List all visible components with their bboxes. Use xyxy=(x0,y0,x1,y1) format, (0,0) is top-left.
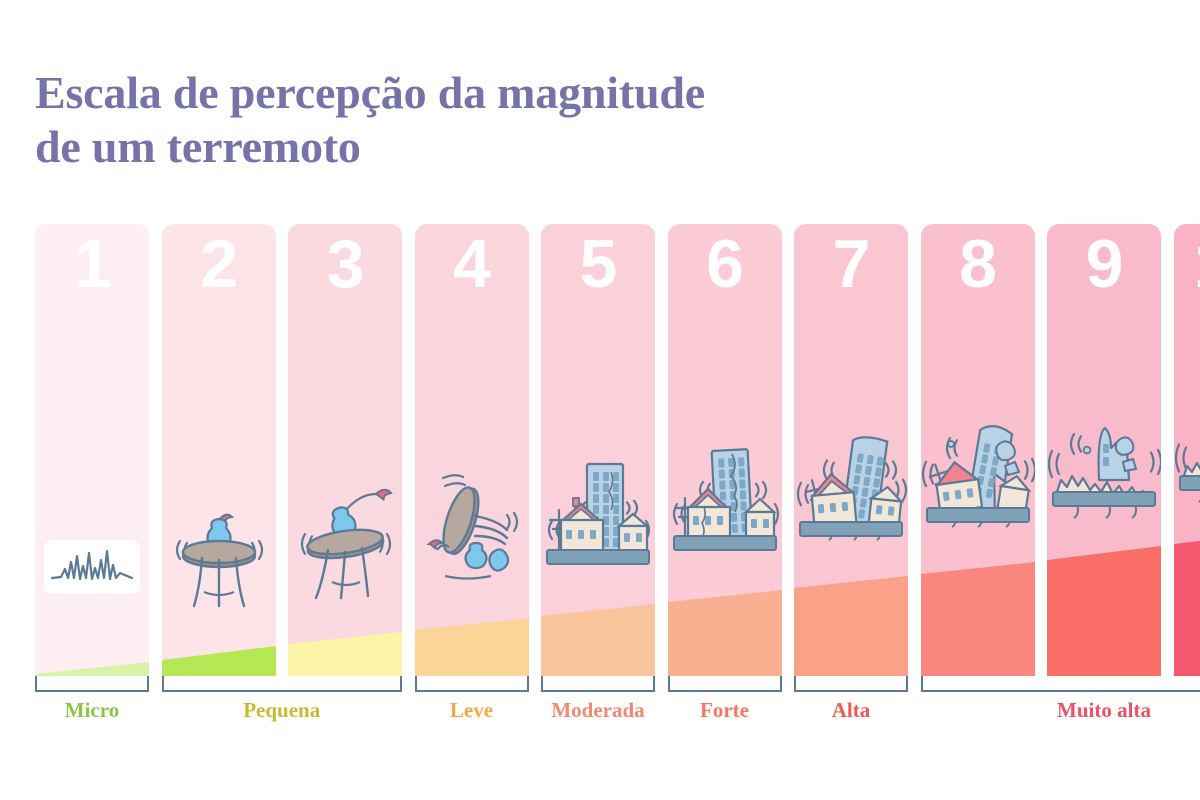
intensity-band xyxy=(1047,516,1161,676)
column-illustration xyxy=(1174,316,1200,516)
infographic-canvas: Escala de percepção da magnitude de um t… xyxy=(0,0,1200,800)
category-label: Muito alta xyxy=(921,698,1200,723)
column-illustration xyxy=(288,418,402,618)
column-illustration xyxy=(162,432,276,632)
bracket-pequena xyxy=(162,676,403,692)
category-label: Pequena xyxy=(162,698,403,723)
column-illustration xyxy=(668,376,782,576)
column-illustration xyxy=(415,404,529,604)
column-illustration xyxy=(1047,332,1161,532)
column-number: 2 xyxy=(162,230,276,298)
column-number: 1 xyxy=(35,230,149,298)
scale-column-2[interactable]: 2 xyxy=(162,224,276,676)
column-illustration xyxy=(541,390,655,590)
column-number: 5 xyxy=(541,230,655,298)
category-brackets xyxy=(35,676,1172,696)
scale-column-3[interactable]: 3 xyxy=(288,224,402,676)
intensity-band xyxy=(1174,516,1200,676)
column-number: 10 xyxy=(1174,230,1200,298)
scale-column-9[interactable]: 9 xyxy=(1047,224,1161,676)
scale-column-1[interactable]: 1 xyxy=(35,224,149,676)
column-number: 7 xyxy=(794,230,908,298)
category-label: Forte xyxy=(668,698,782,723)
column-illustration xyxy=(35,448,149,648)
category-label: Moderada xyxy=(541,698,655,723)
scale-column-10[interactable]: 10 xyxy=(1174,224,1200,676)
column-number: 4 xyxy=(415,230,529,298)
column-number: 6 xyxy=(668,230,782,298)
column-number: 3 xyxy=(288,230,402,298)
scale-column-4[interactable]: 4 xyxy=(415,224,529,676)
scale-column-7[interactable]: 7 xyxy=(794,224,908,676)
scale-column-8[interactable]: 8 xyxy=(921,224,1035,676)
column-illustration xyxy=(794,362,908,562)
magnitude-scale: 12345678910 xyxy=(35,224,1172,676)
category-label: Alta xyxy=(794,698,908,723)
bracket-muito-alta xyxy=(921,676,1200,692)
scale-column-6[interactable]: 6 xyxy=(668,224,782,676)
bracket-alta xyxy=(794,676,908,692)
column-number: 8 xyxy=(921,230,1035,298)
bracket-forte xyxy=(668,676,782,692)
column-illustration xyxy=(921,348,1035,548)
page-title: Escala de percepção da magnitude de um t… xyxy=(35,66,935,175)
column-number: 9 xyxy=(1047,230,1161,298)
category-label: Leve xyxy=(415,698,529,723)
bracket-micro xyxy=(35,676,149,692)
category-label: Micro xyxy=(35,698,149,723)
scale-column-5[interactable]: 5 xyxy=(541,224,655,676)
bracket-moderada xyxy=(541,676,655,692)
bracket-leve xyxy=(415,676,529,692)
